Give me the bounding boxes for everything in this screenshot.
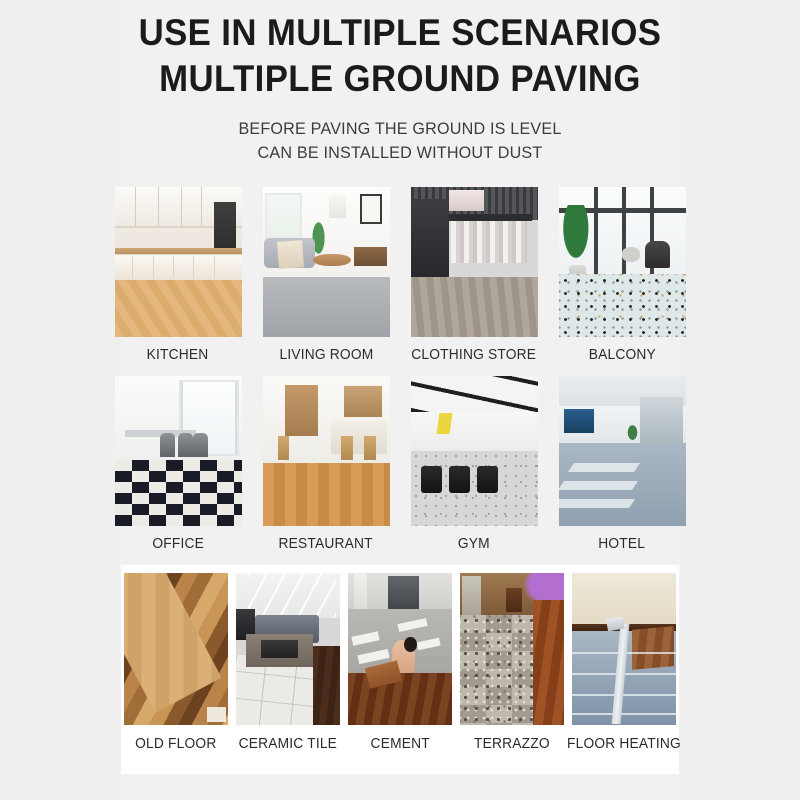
substrate-card-old-floor[interactable]: OLD FLOOR bbox=[124, 573, 228, 752]
subtitle-line-1: BEFORE PAVING THE GROUND IS LEVEL bbox=[20, 117, 780, 142]
scenario-row-3: OLD FLOOR CERAMIC TILE bbox=[121, 573, 679, 752]
scenario-label: RESTAURANT bbox=[279, 536, 373, 552]
scenario-label: KITCHEN bbox=[147, 347, 209, 363]
scenario-label: OFFICE bbox=[152, 536, 204, 552]
ceramic-tile-image bbox=[236, 573, 340, 725]
substrate-panel: OLD FLOOR CERAMIC TILE bbox=[121, 565, 679, 774]
scenario-label: LIVING ROOM bbox=[279, 347, 373, 363]
page-title: USE IN MULTIPLE SCENARIOS MULTIPLE GROUN… bbox=[24, 10, 776, 103]
promo-page: USE IN MULTIPLE SCENARIOS MULTIPLE GROUN… bbox=[0, 0, 800, 800]
scenario-label: CLOTHING STORE bbox=[412, 347, 537, 363]
substrate-card-ceramic-tile[interactable]: CERAMIC TILE bbox=[236, 573, 340, 752]
floor-heating-image bbox=[572, 573, 676, 725]
hotel-image bbox=[559, 376, 686, 526]
substrate-label: TERRAZZO bbox=[474, 736, 550, 752]
substrate-card-cement[interactable]: CEMENT bbox=[348, 573, 452, 752]
scenario-label: BALCONY bbox=[588, 347, 655, 363]
scenario-card-hotel[interactable]: HOTEL bbox=[559, 376, 686, 552]
scenario-card-balcony[interactable]: BALCONY bbox=[559, 187, 686, 363]
header: USE IN MULTIPLE SCENARIOS MULTIPLE GROUN… bbox=[0, 0, 800, 166]
gym-image bbox=[411, 376, 538, 526]
restaurant-image bbox=[263, 376, 390, 526]
living-room-image bbox=[263, 187, 390, 337]
substrate-card-terrazzo[interactable]: TERRAZZO bbox=[460, 573, 564, 752]
kitchen-image bbox=[115, 187, 242, 337]
clothing-store-image bbox=[411, 187, 538, 337]
substrate-label: CERAMIC TILE bbox=[239, 736, 337, 752]
scenario-card-restaurant[interactable]: RESTAURANT bbox=[263, 376, 390, 552]
terrazzo-image bbox=[460, 573, 564, 725]
scenario-row-1: KITCHEN LIVING ROOM bbox=[0, 187, 800, 363]
old-floor-image bbox=[124, 573, 228, 725]
scenario-card-living-room[interactable]: LIVING ROOM bbox=[263, 187, 390, 363]
scenario-label: GYM bbox=[458, 536, 490, 552]
title-line-2: MULTIPLE GROUND PAVING bbox=[24, 56, 776, 102]
cement-image bbox=[348, 573, 452, 725]
substrate-card-floor-heating[interactable]: FLOOR HEATING bbox=[572, 573, 676, 752]
scenario-row-2: OFFICE RESTAURANT bbox=[0, 376, 800, 552]
title-line-1: USE IN MULTIPLE SCENARIOS bbox=[24, 10, 776, 56]
balcony-image bbox=[559, 187, 686, 337]
scenario-card-office[interactable]: OFFICE bbox=[115, 376, 242, 552]
substrate-label: CEMENT bbox=[370, 736, 429, 752]
scenario-card-kitchen[interactable]: KITCHEN bbox=[115, 187, 242, 363]
office-image bbox=[115, 376, 242, 526]
scenario-card-gym[interactable]: GYM bbox=[411, 376, 538, 552]
subtitle-line-2: CAN BE INSTALLED WITHOUT DUST bbox=[20, 141, 780, 166]
substrate-label: OLD FLOOR bbox=[135, 736, 216, 752]
substrate-label: FLOOR HEATING bbox=[567, 736, 681, 752]
scenario-label: HOTEL bbox=[599, 536, 646, 552]
page-subtitle: BEFORE PAVING THE GROUND IS LEVEL CAN BE… bbox=[20, 117, 780, 166]
scenario-card-clothing-store[interactable]: CLOTHING STORE bbox=[411, 187, 538, 363]
